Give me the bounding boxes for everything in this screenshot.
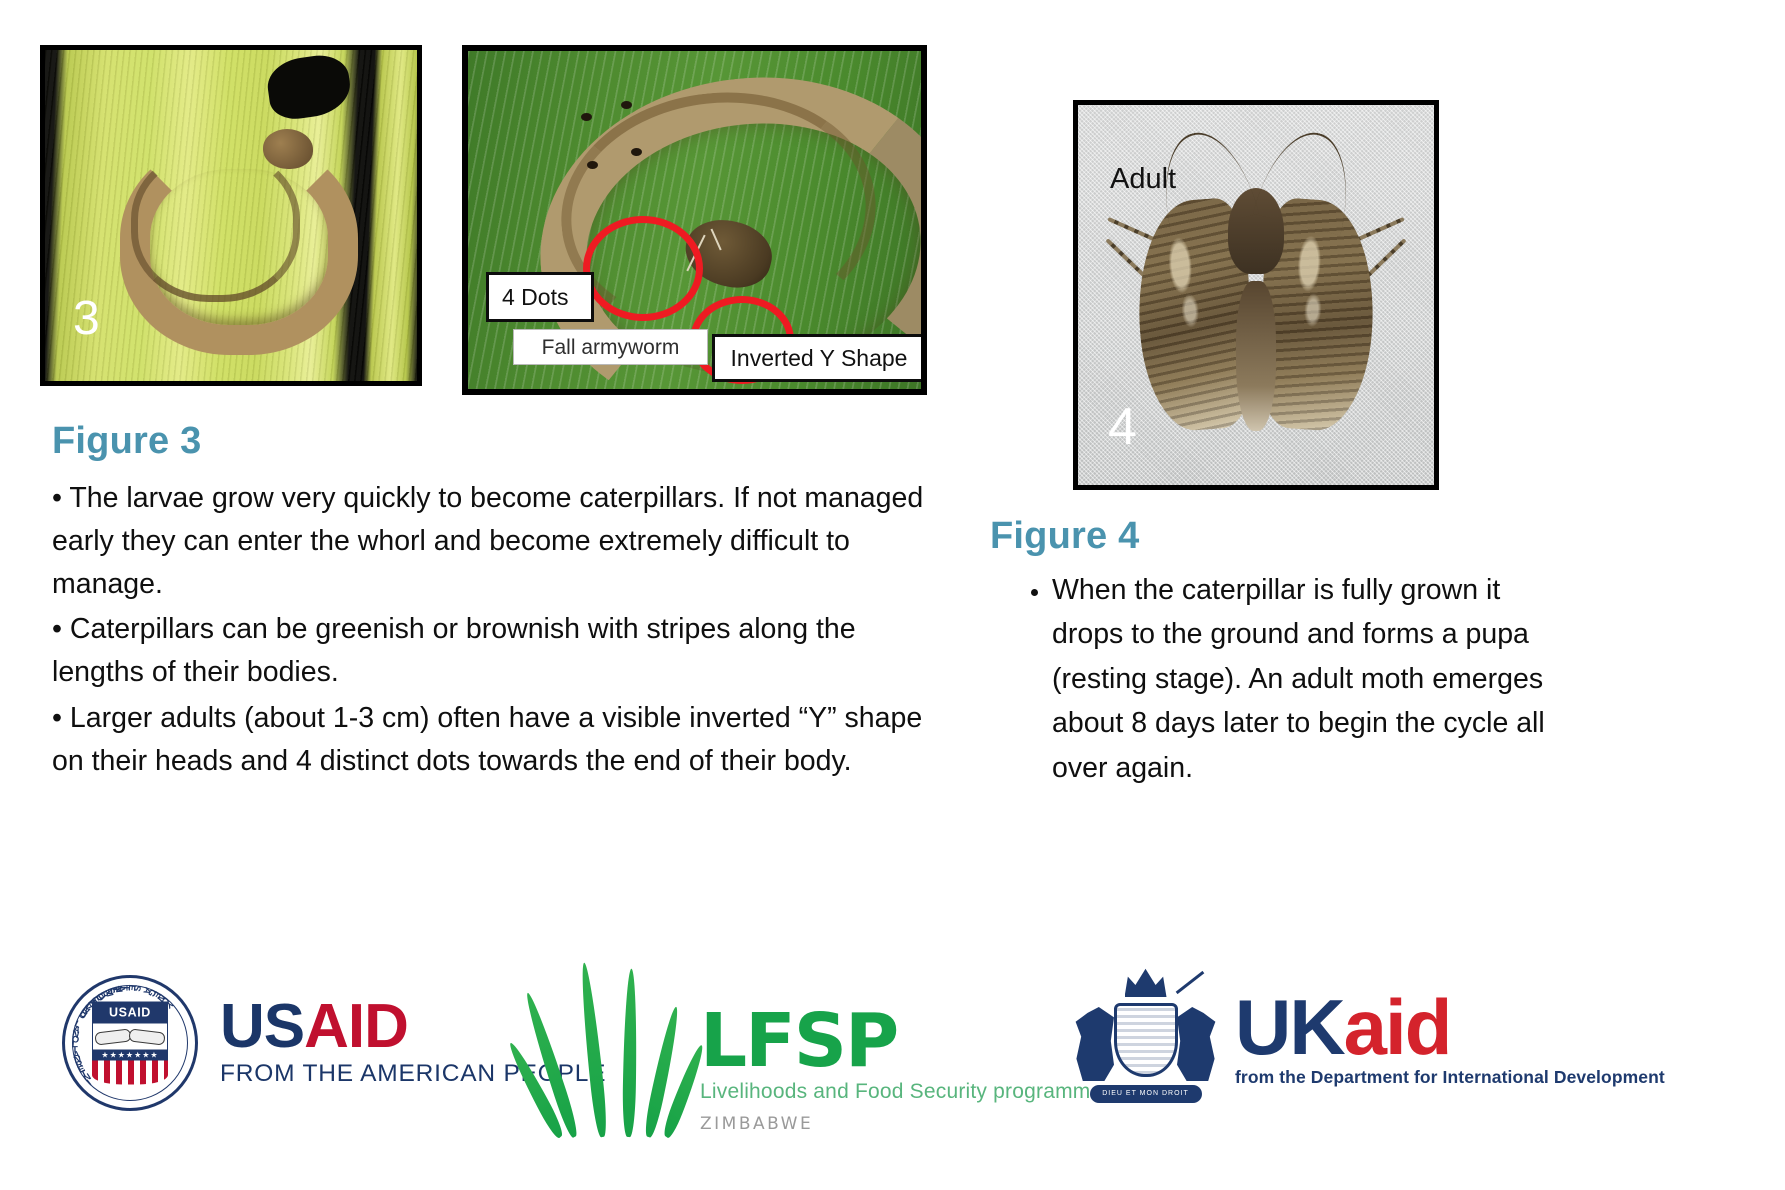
ukaid-wordmark-text: UKaid bbox=[1235, 994, 1665, 1061]
crest-motto-scroll: DIEU ET MON DROIT bbox=[1090, 1085, 1202, 1103]
stars-band-icon: ★★★★★★★ bbox=[92, 1050, 168, 1061]
unicorn-icon bbox=[1177, 1007, 1217, 1081]
photo-number-4: 4 bbox=[1108, 401, 1137, 453]
usaid-word-aid: AID bbox=[304, 992, 408, 1061]
lfsp-tagline: Livelihoods and Food Security programme bbox=[700, 1080, 1102, 1104]
donor-logo-strip: UNITED STATES AGENCYINTERNATIONAL DEVELO… bbox=[0, 955, 1785, 1140]
figure-4-bullet-list: When the caterpillar is fully grown it d… bbox=[990, 568, 1550, 790]
unicorn-horn-icon bbox=[1176, 971, 1205, 994]
figure-4-text-block: Figure 4 When the caterpillar is fully g… bbox=[990, 515, 1550, 790]
usaid-seal-tag: USAID bbox=[92, 1002, 168, 1024]
usaid-seal-ring-top: UNITED STATES AGENCYINTERNATIONAL DEVELO… bbox=[65, 978, 195, 1108]
grass-blades-icon bbox=[556, 957, 696, 1137]
inverted-y-callout-label: Inverted Y Shape bbox=[712, 334, 926, 382]
photo-number-3: 3 bbox=[73, 295, 100, 343]
lfsp-wordmark: LFSP Livelihoods and Food Security progr… bbox=[700, 1009, 1102, 1134]
figure-3-text-block: Figure 3 • The larvae grow very quickly … bbox=[52, 420, 932, 785]
larva-on-leaf-photo: 3 bbox=[40, 45, 422, 386]
ukaid-word-aid: aid bbox=[1344, 983, 1451, 1071]
figure-4-heading: Figure 4 bbox=[990, 515, 1550, 558]
ukaid-word-uk: UK bbox=[1235, 983, 1344, 1071]
four-dots-highlight-circle-icon bbox=[583, 216, 703, 321]
royal-coat-of-arms-icon: DIEU ET MON DROIT bbox=[1068, 961, 1223, 1121]
figure-4-bullet-1: When the caterpillar is fully grown it d… bbox=[1052, 568, 1550, 790]
royal-shield-icon bbox=[1114, 1003, 1178, 1077]
moth-abdomen bbox=[1236, 281, 1276, 431]
annotated-armyworm-photo: 4 Dots Fall armyworm Inverted Y Shape bbox=[462, 45, 927, 395]
adult-stage-label: Adult bbox=[1110, 165, 1176, 194]
lion-icon bbox=[1074, 1007, 1114, 1081]
four-dots-callout-label: 4 Dots bbox=[486, 272, 594, 322]
handshake-icon bbox=[92, 1024, 168, 1050]
fall-armyworm-callout-label: Fall armyworm bbox=[513, 329, 708, 365]
crown-icon bbox=[1125, 967, 1167, 997]
ukaid-tagline: from the Department for International De… bbox=[1235, 1067, 1665, 1088]
figure-3-bullet-1: • The larvae grow very quickly to become… bbox=[52, 477, 932, 605]
larva-head bbox=[263, 129, 313, 169]
figure-3-heading: Figure 3 bbox=[52, 420, 932, 463]
lfsp-country: ZIMBABWE bbox=[700, 1114, 1102, 1134]
usaid-word-us: US bbox=[220, 992, 304, 1061]
ukaid-logo: DIEU ET MON DROIT UKaid from the Departm… bbox=[1068, 961, 1665, 1121]
larva-illustration bbox=[112, 136, 305, 302]
adult-moth-photo: Adult 4 bbox=[1073, 100, 1439, 490]
ukaid-wordmark: UKaid from the Department for Internatio… bbox=[1235, 994, 1665, 1088]
usaid-seal-icon: UNITED STATES AGENCYINTERNATIONAL DEVELO… bbox=[62, 975, 198, 1111]
lfsp-logo: LFSP Livelihoods and Food Security progr… bbox=[556, 957, 1102, 1137]
figure-3-body: • The larvae grow very quickly to become… bbox=[52, 477, 932, 782]
figure-3-bullet-3: • Larger adults (about 1-3 cm) often hav… bbox=[52, 697, 932, 783]
lfsp-wordmark-text: LFSP bbox=[700, 1009, 1102, 1074]
moth-illustration bbox=[1131, 151, 1381, 461]
shield-stripes-icon bbox=[92, 1061, 168, 1085]
larva-body-stripe bbox=[131, 149, 300, 302]
usaid-seal-core: USAID ★★★★★★★ bbox=[92, 1002, 168, 1085]
usaid-logo: UNITED STATES AGENCYINTERNATIONAL DEVELO… bbox=[62, 975, 606, 1111]
figure-3-bullet-2: • Caterpillars can be greenish or browni… bbox=[52, 608, 932, 694]
